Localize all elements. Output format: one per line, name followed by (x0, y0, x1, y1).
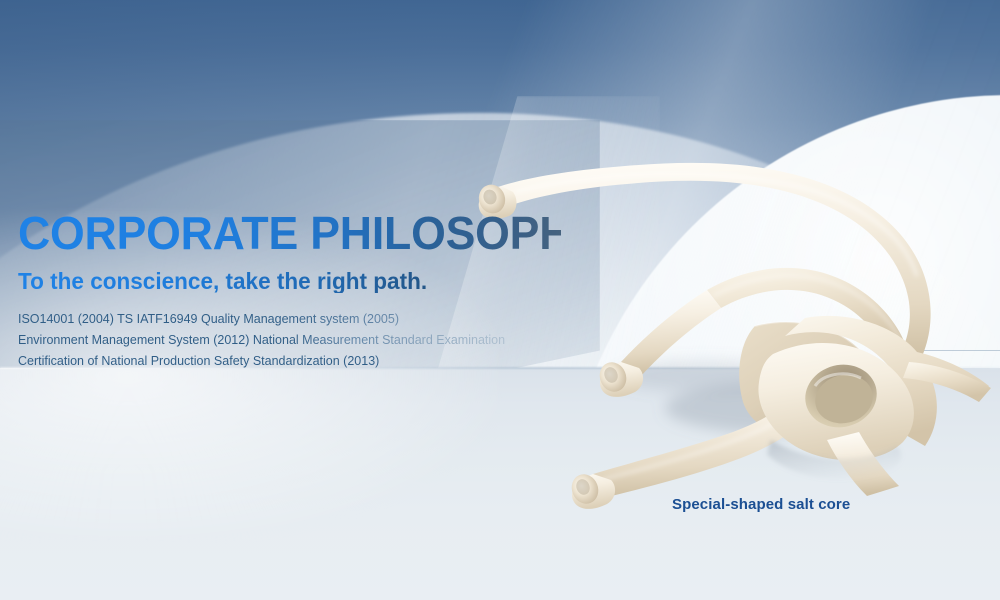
certification-line: Certification of National Production Saf… (18, 351, 578, 372)
product-caption: Special-shaped salt core (672, 496, 850, 513)
banner-text-block: CORPORATE PHILOSOPHY To the conscience, … (18, 210, 578, 372)
corporate-philosophy-banner: CORPORATE PHILOSOPHY To the conscience, … (0, 0, 1000, 600)
certification-line: ISO14001 (2004) TS IATF16949 Quality Man… (18, 309, 578, 330)
certification-line: Environment Management System (2012) Nat… (18, 330, 578, 351)
subtitle: To the conscience, take the right path. (18, 270, 567, 293)
certification-list: ISO14001 (2004) TS IATF16949 Quality Man… (18, 309, 578, 372)
page-title: CORPORATE PHILOSOPHY (18, 210, 561, 256)
